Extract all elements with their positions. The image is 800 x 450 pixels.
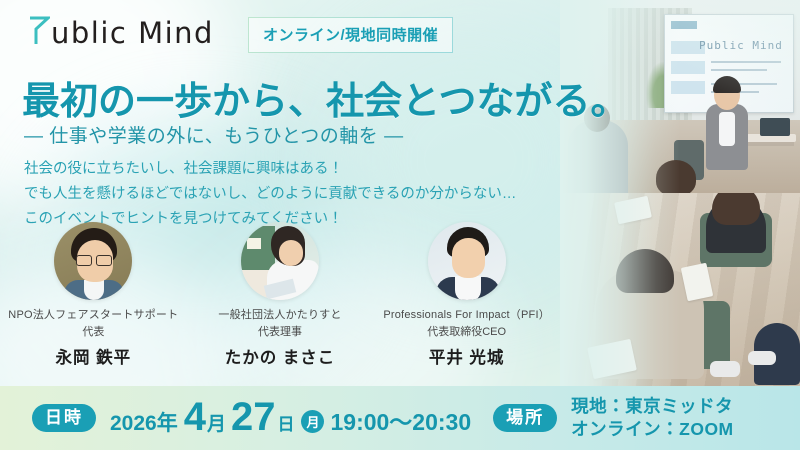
brand-logo: ublic Mind bbox=[28, 16, 214, 50]
slide-title: Public Mind bbox=[699, 39, 783, 52]
event-day: 27 bbox=[231, 399, 276, 435]
speaker-card: 一般社団法人かたりすと 代表理事 たかの まさこ bbox=[192, 222, 368, 368]
event-year: 2026年 bbox=[110, 407, 178, 437]
page-subtitle: — 仕事や学業の外に、もうひとつの軸を — bbox=[24, 121, 404, 148]
datetime-label-pill: 日時 bbox=[32, 404, 96, 432]
attendee-head bbox=[656, 160, 696, 193]
event-time: 19:00〜20:30 bbox=[330, 403, 471, 437]
presenter-shirt bbox=[719, 112, 735, 146]
audience-hair bbox=[712, 193, 760, 225]
speaker-role: 代表理事 bbox=[192, 324, 368, 342]
speaker-list: NPO法人フェアスタートサポート 代表 永岡 鉄平 一般社団法人かたりすと 代表… bbox=[0, 222, 560, 368]
slide-line bbox=[711, 61, 781, 63]
speaker-role: 代表取締役CEO bbox=[379, 324, 555, 342]
flag-p-icon bbox=[28, 16, 50, 51]
speaker-org: 一般社団法人かたりすと bbox=[192, 307, 368, 324]
slide-box bbox=[671, 61, 705, 74]
laptop bbox=[760, 118, 790, 136]
shoe bbox=[710, 361, 740, 377]
speaker-name: 永岡 鉄平 bbox=[5, 344, 181, 368]
brand-logo-text: ublic Mind bbox=[51, 16, 214, 50]
speaker-card: Professionals For Impact（PFI） 代表取締役CEO 平… bbox=[379, 222, 555, 368]
speaker-card: NPO法人フェアスタートサポート 代表 永岡 鉄平 bbox=[5, 222, 181, 368]
shoe bbox=[748, 351, 776, 365]
event-month: 4 bbox=[184, 399, 206, 435]
speaker-photo-man-glasses bbox=[54, 222, 132, 300]
lead-paragraph: 社会の役に立ちたいし、社会課題に興味はある！ でも人生を懸けるほどではないし、ど… bbox=[24, 157, 516, 232]
venue-online: オンライン：ZOOM bbox=[571, 418, 734, 441]
event-info-bar: 日時 2026年 4 月 27 日 月 19:00〜20:30 場所 現地：東京… bbox=[0, 386, 800, 450]
event-venue: 現地：東京ミッドタ オンライン：ZOOM bbox=[571, 395, 734, 441]
slide-line bbox=[711, 69, 767, 71]
weekday-badge: 月 bbox=[301, 410, 324, 433]
event-datetime: 2026年 4 月 27 日 月 19:00〜20:30 bbox=[110, 399, 471, 437]
speaker-org: Professionals For Impact（PFI） bbox=[379, 307, 555, 324]
day-unit: 日 bbox=[277, 410, 294, 435]
speaker-photo-man-smiling bbox=[428, 222, 506, 300]
place-label-pill: 場所 bbox=[493, 404, 557, 432]
speaker-role: 代表 bbox=[5, 324, 181, 342]
month-unit: 月 bbox=[207, 409, 226, 436]
speaker-name: たかの まさこ bbox=[192, 344, 368, 368]
venue-onsite: 現地：東京ミッドタ bbox=[571, 395, 734, 418]
format-badge: オンライン/現地同時開催 bbox=[248, 17, 453, 53]
slide-tag bbox=[671, 21, 697, 29]
photo-collage: Public Mind bbox=[560, 0, 800, 386]
audience-scene bbox=[560, 193, 800, 386]
lead-line: でも人生を懸けるほどではないし、どのように貢献できるのか分からない… bbox=[24, 182, 516, 207]
speaker-name: 平井 光城 bbox=[379, 344, 555, 368]
speaker-photo-woman-chalkboard bbox=[241, 222, 319, 300]
page-title: 最初の一歩から、社会とつながる。 bbox=[22, 70, 628, 125]
event-poster: Public Mind bbox=[0, 0, 800, 450]
audience-seating-photo bbox=[560, 193, 800, 386]
speaker-org: NPO法人フェアスタートサポート bbox=[5, 307, 181, 324]
lead-line: 社会の役に立ちたいし、社会課題に興味はある！ bbox=[24, 157, 516, 182]
slide-box bbox=[671, 81, 705, 94]
